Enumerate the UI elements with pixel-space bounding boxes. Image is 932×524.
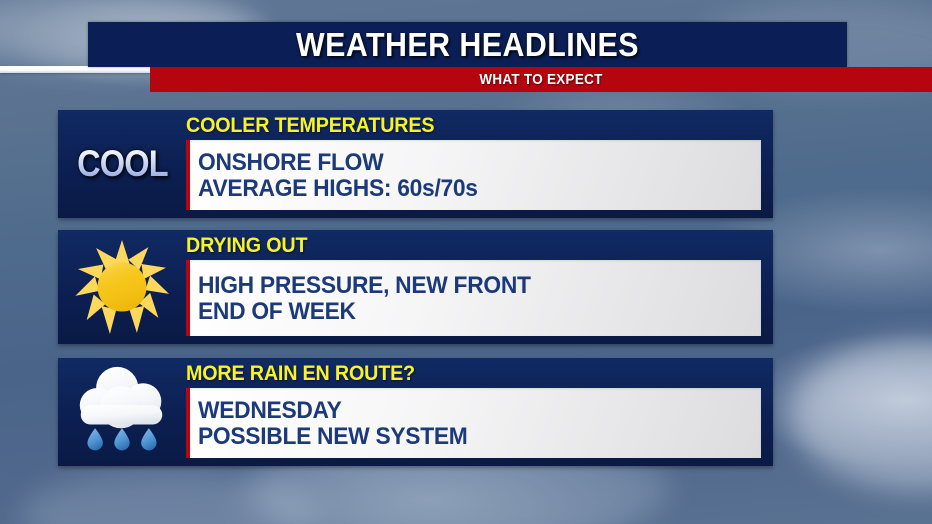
row-detail-line: HIGH PRESSURE, NEW FRONT <box>198 273 733 299</box>
row-detail-inner: WEDNESDAY POSSIBLE NEW SYSTEM <box>190 388 761 458</box>
row-kicker: DRYING OUT <box>186 234 307 258</box>
header-title-bar: WEATHER HEADLINES <box>88 22 847 67</box>
row-content: MORE RAIN EN ROUTE? WEDNESDAY POSSIBLE N… <box>186 358 761 466</box>
row-detail-line: ONSHORE FLOW <box>198 150 733 176</box>
row-detail-line: END OF WEEK <box>198 299 733 325</box>
cloud-wisp <box>790 340 932 490</box>
page-subtitle: WHAT TO EXPECT <box>189 67 893 92</box>
row-detail-panel: ONSHORE FLOW AVERAGE HIGHS: 60s/70s <box>186 140 761 210</box>
row-detail-inner: HIGH PRESSURE, NEW FRONT END OF WEEK <box>190 260 761 336</box>
row-detail-line: AVERAGE HIGHS: 60s/70s <box>198 176 733 202</box>
cloud-wisp <box>20 470 320 524</box>
row-content: DRYING OUT HIGH PRESSURE, NEW FRONT END … <box>186 230 761 344</box>
row-icon-cell <box>58 358 186 466</box>
headline-row: MORE RAIN EN ROUTE? WEDNESDAY POSSIBLE N… <box>58 358 773 466</box>
header-subtitle-bar: WHAT TO EXPECT <box>150 67 932 92</box>
headline-row: DRYING OUT HIGH PRESSURE, NEW FRONT END … <box>58 230 773 344</box>
row-detail-line: POSSIBLE NEW SYSTEM <box>198 424 733 450</box>
row-kicker: COOLER TEMPERATURES <box>186 114 434 138</box>
row-content: COOLER TEMPERATURES ONSHORE FLOW AVERAGE… <box>186 110 761 218</box>
row-icon-cell <box>58 230 186 344</box>
sun-icon <box>74 239 170 335</box>
row-icon-cell: COOL <box>58 110 186 218</box>
page-title: WEATHER HEADLINES <box>118 22 816 67</box>
row-detail-panel: HIGH PRESSURE, NEW FRONT END OF WEEK <box>186 260 761 336</box>
row-detail-inner: ONSHORE FLOW AVERAGE HIGHS: 60s/70s <box>190 140 761 210</box>
rain-cloud-icon <box>72 365 172 459</box>
row-detail-panel: WEDNESDAY POSSIBLE NEW SYSTEM <box>186 388 761 458</box>
row-detail-line: WEDNESDAY <box>198 398 733 424</box>
row-kicker: MORE RAIN EN ROUTE? <box>186 362 415 386</box>
cool-text-icon: COOL <box>77 143 168 185</box>
headline-row: COOL COOLER TEMPERATURES ONSHORE FLOW AV… <box>58 110 773 218</box>
weather-headlines-graphic: WEATHER HEADLINES WHAT TO EXPECT COOL CO… <box>0 0 932 524</box>
